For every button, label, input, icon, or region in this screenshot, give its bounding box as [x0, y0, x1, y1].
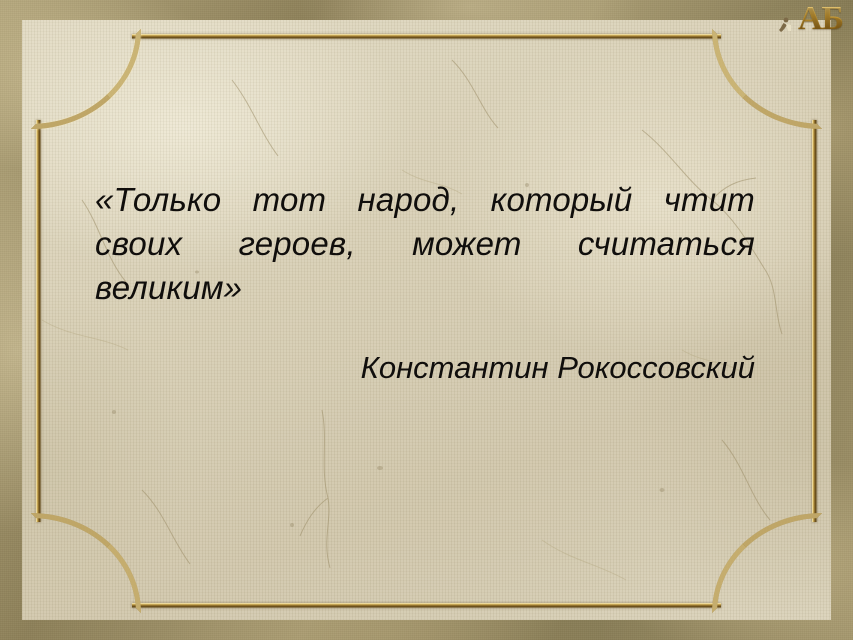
slide-content: «Только тот народ, который чтит своих ге…	[95, 178, 755, 388]
quote-line-3: великим»	[95, 269, 242, 306]
ab-monogram-logo: АБ	[775, 2, 845, 42]
quote-attribution: Константин Рокоссовский	[95, 348, 755, 388]
seated-scribe-icon	[777, 16, 797, 36]
quote-text: «Только тот народ, который чтит своих ге…	[95, 178, 755, 310]
presentation-slide: АБ «Только тот народ, который чтит своих…	[0, 0, 853, 640]
quote-line-2: своих героев, может считаться	[95, 225, 755, 262]
logo-monogram-text: АБ	[798, 0, 843, 38]
quote-line-1: «Только тот народ, который чтит	[95, 181, 755, 218]
